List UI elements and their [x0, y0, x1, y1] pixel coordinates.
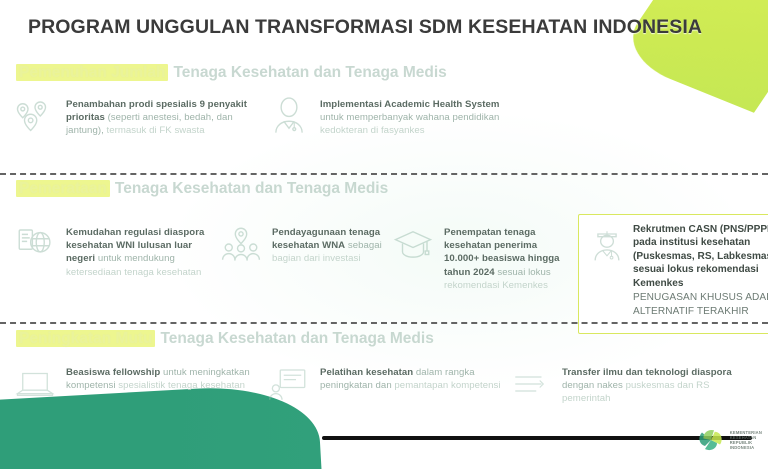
- item-bold: Beasiswa fellowship: [66, 367, 160, 378]
- callout-line: Rekrutmen CASN (PNS/PPPK): [633, 224, 768, 235]
- callout-note-line: ALTERNATIF TERAKHIR: [633, 305, 768, 318]
- item-tail: bagian dari investasi: [272, 253, 361, 264]
- section-header-highlight: Pemenuhan Jumlah: [16, 64, 168, 81]
- section-items: Beasiswa fellowship untuk meningkatkan k…: [0, 358, 768, 428]
- item-tail: rekomendasi Kemenkes: [444, 280, 548, 291]
- list-item[interactable]: Pelatihan kesehatan dalam rangka peningk…: [266, 362, 501, 406]
- section-header-rest: Tenaga Kesehatan dan Tenaga Medis: [173, 64, 446, 81]
- list-item-text: Pendayagunaan tenaga kesehatan WNA sebag…: [272, 222, 383, 266]
- section-header: Pemenuhan JumlahTenaga Kesehatan dan Ten…: [0, 64, 768, 86]
- section-header-rest: Tenaga Kesehatan dan Tenaga Medis: [160, 330, 433, 347]
- slide-canvas: PROGRAM UNGGULAN TRANSFORMASI SDM KESEHA…: [0, 0, 768, 469]
- section-peningkatan-mutu: Peningkatan MutuTenaga Kesehatan dan Ten…: [0, 330, 768, 428]
- callout-box-casn[interactable]: Rekrutmen CASN (PNS/PPPK) pada institusi…: [578, 214, 768, 334]
- item-bold: Transfer ilmu dan teknologi diaspora: [562, 367, 732, 378]
- callout-line: sesuai lokus rekomendasi: [633, 264, 759, 275]
- list-item[interactable]: Implementasi Academic Health System untu…: [266, 94, 510, 138]
- callout-text: Rekrutmen CASN (PNS/PPPK) pada institusi…: [633, 223, 768, 319]
- item-mid: untuk mendukung: [98, 253, 175, 264]
- list-item[interactable]: Pendayagunaan tenaga kesehatan WNA sebag…: [218, 222, 383, 266]
- item-tail: ketersediaan tenaga kesehatan: [66, 267, 201, 278]
- list-item[interactable]: Beasiswa fellowship untuk meningkatkan k…: [12, 362, 262, 406]
- list-item-text: Pelatihan kesehatan dalam rangka peningk…: [320, 362, 501, 392]
- list-item-text: Kemudahan regulasi diaspora kesehatan WN…: [66, 222, 212, 279]
- list-item-text: Beasiswa fellowship untuk meningkatkan k…: [66, 362, 262, 392]
- section-header-highlight: Peningkatan Mutu: [16, 330, 155, 347]
- item-mid: untuk memperbanyak wahana pendidikan: [320, 112, 499, 123]
- item-bold: Pelatihan kesehatan: [320, 367, 413, 378]
- section-items: Kemudahan regulasi diaspora kesehatan WN…: [0, 208, 768, 338]
- list-item[interactable]: Penempatan tenaga kesehatan penerima 10.…: [390, 222, 575, 292]
- item-mid: sesuai lokus: [497, 267, 550, 278]
- section-pemenuhan: Pemenuhan JumlahTenaga Kesehatan dan Ten…: [0, 64, 768, 197]
- section-header: Peningkatan MutuTenaga Kesehatan dan Ten…: [0, 330, 768, 352]
- item-mid: sebagai: [348, 240, 382, 251]
- transfer-icon: [508, 362, 554, 406]
- list-item-text: Implementasi Academic Health System untu…: [320, 94, 510, 138]
- item-tail: pemantapan kompetensi: [394, 380, 500, 391]
- list-item-text: Penempatan tenaga kesehatan penerima 10.…: [444, 222, 575, 292]
- list-item[interactable]: Transfer ilmu dan teknologi diaspora den…: [508, 362, 760, 406]
- section-header-highlight: Pemerataan: [16, 180, 110, 197]
- callout-line: pada institusi kesehatan: [633, 237, 750, 248]
- kemenkes-logo-mark: [696, 425, 726, 455]
- item-bold: Implementasi Academic Health System: [320, 99, 499, 110]
- section-header: PemerataanTenaga Kesehatan dan Tenaga Me…: [0, 180, 768, 202]
- callout-note-line: PENUGASAN KHUSUS ADALAH: [633, 291, 768, 304]
- callout-line: Kemenkes: [633, 278, 684, 289]
- section-pemerataan: PemerataanTenaga Kesehatan dan Tenaga Me…: [0, 180, 768, 338]
- item-tail: kedokteran di fasyankes: [320, 125, 425, 136]
- section-divider: [0, 173, 768, 175]
- item-mid: dengan nakes: [562, 380, 623, 391]
- list-item[interactable]: Kemudahan regulasi diaspora kesehatan WN…: [12, 222, 212, 279]
- nurse-icon: [587, 223, 627, 265]
- item-tail: spesialistik tenaga kesehatan: [118, 380, 245, 391]
- item-tail: termasuk di FK swasta: [107, 125, 205, 136]
- list-item[interactable]: Penambahan prodi spesialis 9 penyakit pr…: [12, 94, 256, 138]
- doctor-icon: [266, 94, 312, 138]
- graduation-cap-icon: [390, 222, 436, 266]
- logo-line: INDONESIA: [730, 445, 755, 450]
- map-pins-icon: [12, 94, 58, 138]
- list-item-text: Penambahan prodi spesialis 9 penyakit pr…: [66, 94, 256, 138]
- list-item-text: Transfer ilmu dan teknologi diaspora den…: [562, 362, 760, 406]
- people-location-icon: [218, 222, 264, 266]
- presentation-icon: [266, 362, 312, 406]
- laptop-icon: [12, 362, 58, 406]
- kemenkes-logo-text: KEMENTERIAN KESEHATAN REPUBLIK INDONESIA: [730, 430, 762, 451]
- section-header-rest: Tenaga Kesehatan dan Tenaga Medis: [115, 180, 388, 197]
- section-divider: [0, 322, 768, 324]
- callout-line: (Puskesmas, RS, Labkesmas): [633, 251, 768, 262]
- globe-document-icon: [12, 222, 58, 266]
- decor-bottom-rule: [322, 436, 752, 440]
- kemenkes-logo: KEMENTERIAN KESEHATAN REPUBLIK INDONESIA: [696, 425, 762, 455]
- page-title: PROGRAM UNGGULAN TRANSFORMASI SDM KESEHA…: [28, 16, 702, 39]
